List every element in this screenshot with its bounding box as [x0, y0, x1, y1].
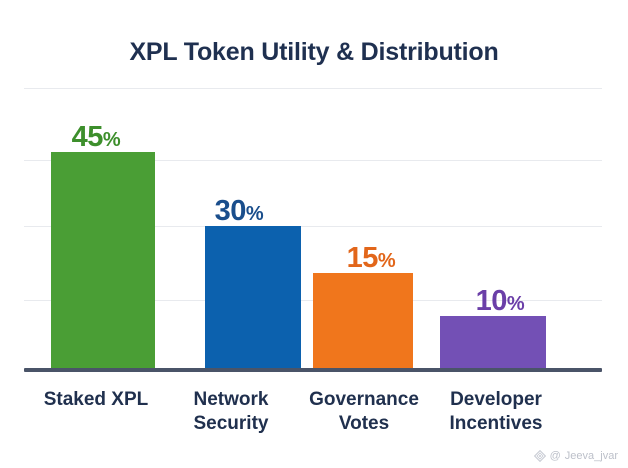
bar-value-number-1: 30 — [215, 195, 246, 227]
bar-value-number-3: 10 — [476, 285, 507, 317]
bar-value-label-2: 15% — [299, 244, 443, 273]
bar-value-label-3: 10% — [428, 287, 572, 316]
watermark-at-symbol: @ — [550, 450, 561, 462]
category-labels: Staked XPL Network Security Governance V… — [24, 388, 602, 458]
bar-governance-votes[interactable] — [313, 273, 413, 370]
bar-value-percent-3: % — [507, 293, 524, 315]
bar-group-network-security[interactable]: 30% — [167, 82, 311, 370]
watermark: @ Jeeva_jvar — [534, 450, 618, 462]
category-label-line: Staked XPL — [21, 388, 171, 412]
bar-value-number-0: 45 — [72, 121, 103, 153]
bar-value-number-2: 15 — [347, 242, 378, 274]
bars-layer: 45% 30% 15% 10% — [24, 82, 602, 370]
bar-network-security[interactable] — [205, 226, 301, 370]
category-label-line: Votes — [289, 412, 439, 436]
bar-value-percent-0: % — [103, 129, 120, 151]
bar-value-label-1: 30% — [167, 197, 311, 226]
bar-group-governance-votes[interactable]: 15% — [299, 82, 443, 370]
bar-group-staked-xpl[interactable]: 45% — [24, 82, 168, 370]
bar-chart-figure: XPL Token Utility & Distribution 45% 30%… — [0, 0, 628, 468]
chart-title: XPL Token Utility & Distribution — [0, 38, 628, 67]
category-label-developer-incentives: Developer Incentives — [421, 388, 571, 437]
x-axis-baseline — [24, 368, 602, 372]
category-label-line: Incentives — [421, 412, 571, 436]
bar-developer-incentives[interactable] — [440, 316, 546, 370]
category-label-line: Governance — [289, 388, 439, 412]
bar-group-developer-incentives[interactable]: 10% — [428, 82, 572, 370]
category-label-staked-xpl: Staked XPL — [21, 388, 171, 412]
category-label-governance-votes: Governance Votes — [289, 388, 439, 437]
category-label-network-security: Network Security — [156, 388, 306, 437]
watermark-handle: Jeeva_jvar — [565, 450, 618, 462]
bar-staked-xpl[interactable] — [51, 152, 155, 370]
bar-value-label-0: 45% — [24, 123, 168, 152]
diamond-badge-icon — [534, 450, 546, 462]
bar-value-percent-1: % — [246, 203, 263, 225]
category-label-line: Security — [156, 412, 306, 436]
bar-value-percent-2: % — [378, 250, 395, 272]
category-label-line: Network — [156, 388, 306, 412]
category-label-line: Developer — [421, 388, 571, 412]
